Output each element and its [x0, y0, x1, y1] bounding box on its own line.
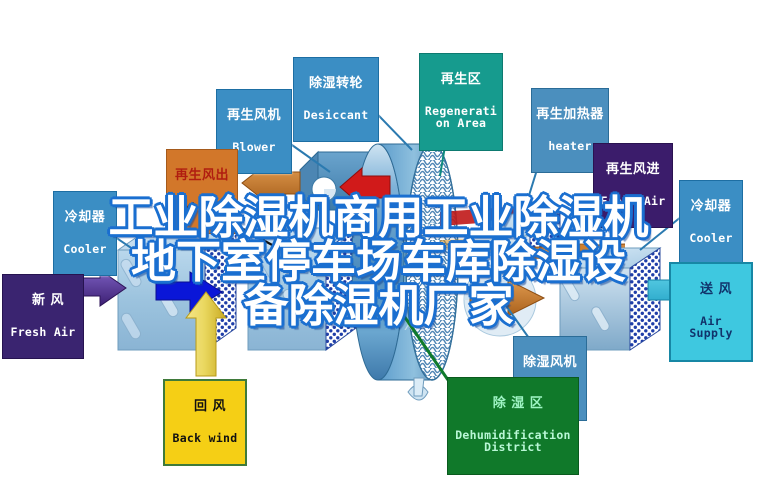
label-dehum-district-cn: 除 湿 区 [452, 397, 574, 411]
label-cooler-right: 冷却器 Cooler [679, 180, 743, 265]
label-dehum-district: 除 湿 区 Dehumidification District [447, 377, 579, 475]
label-dehum-district-en: Dehumidification District [452, 429, 574, 454]
label-air-supply: 送 风 Air Supply [669, 262, 753, 362]
label-back-wind-cn: 回 风 [169, 400, 241, 414]
label-regen-fresh-air-in-cn: 再生风进 [598, 163, 668, 177]
label-regen-area-en: Regenerati on Area [424, 105, 498, 130]
label-air-supply-cn: 送 风 [675, 283, 747, 297]
label-cooler-right-cn: 冷却器 [684, 200, 738, 214]
label-exhaust-cn: 再生风出 [171, 169, 233, 183]
label-regen-area-cn: 再生区 [424, 73, 498, 87]
label-cooler-left-en: Cooler [58, 243, 112, 255]
label-regen-heater-cn: 再生加热器 [536, 108, 604, 122]
process-intake-housing [248, 228, 356, 350]
label-desiccant-wheel-en: Desiccant [298, 109, 374, 121]
label-desiccant-wheel-cn: 除湿转轮 [298, 77, 374, 91]
label-regen-area: 再生区 Regenerati on Area [419, 53, 503, 151]
label-cooler-right-en: Cooler [684, 232, 738, 244]
label-back-wind-en: Back wind [169, 432, 241, 444]
label-back-wind: 回 风 Back wind [163, 379, 247, 466]
label-cooler-left-cn: 冷却器 [58, 211, 112, 225]
label-exhaust-en: Exhaust [171, 201, 233, 213]
label-fresh-air-left: 新 风 Fresh Air [2, 274, 84, 359]
label-air-supply-en: Air Supply [675, 315, 747, 340]
label-cooler-left: 冷却器 Cooler [53, 191, 117, 276]
label-regen-fresh-air-in: 再生风进 Fresh Air [593, 143, 673, 228]
diagram-canvas: XT [0, 0, 757, 488]
label-regen-fresh-air-in-en: Fresh Air [598, 195, 668, 207]
label-desiccant-wheel: 除湿转轮 Desiccant [293, 57, 379, 142]
label-fresh-air-left-en: Fresh Air [7, 326, 79, 338]
label-regen-blower-cn: 再生风机 [221, 109, 287, 123]
label-fresh-air-left-cn: 新 风 [7, 294, 79, 308]
label-exhaust: 再生风出 Exhaust [166, 149, 238, 234]
label-dehum-blower-cn: 除湿风机 [518, 356, 582, 370]
